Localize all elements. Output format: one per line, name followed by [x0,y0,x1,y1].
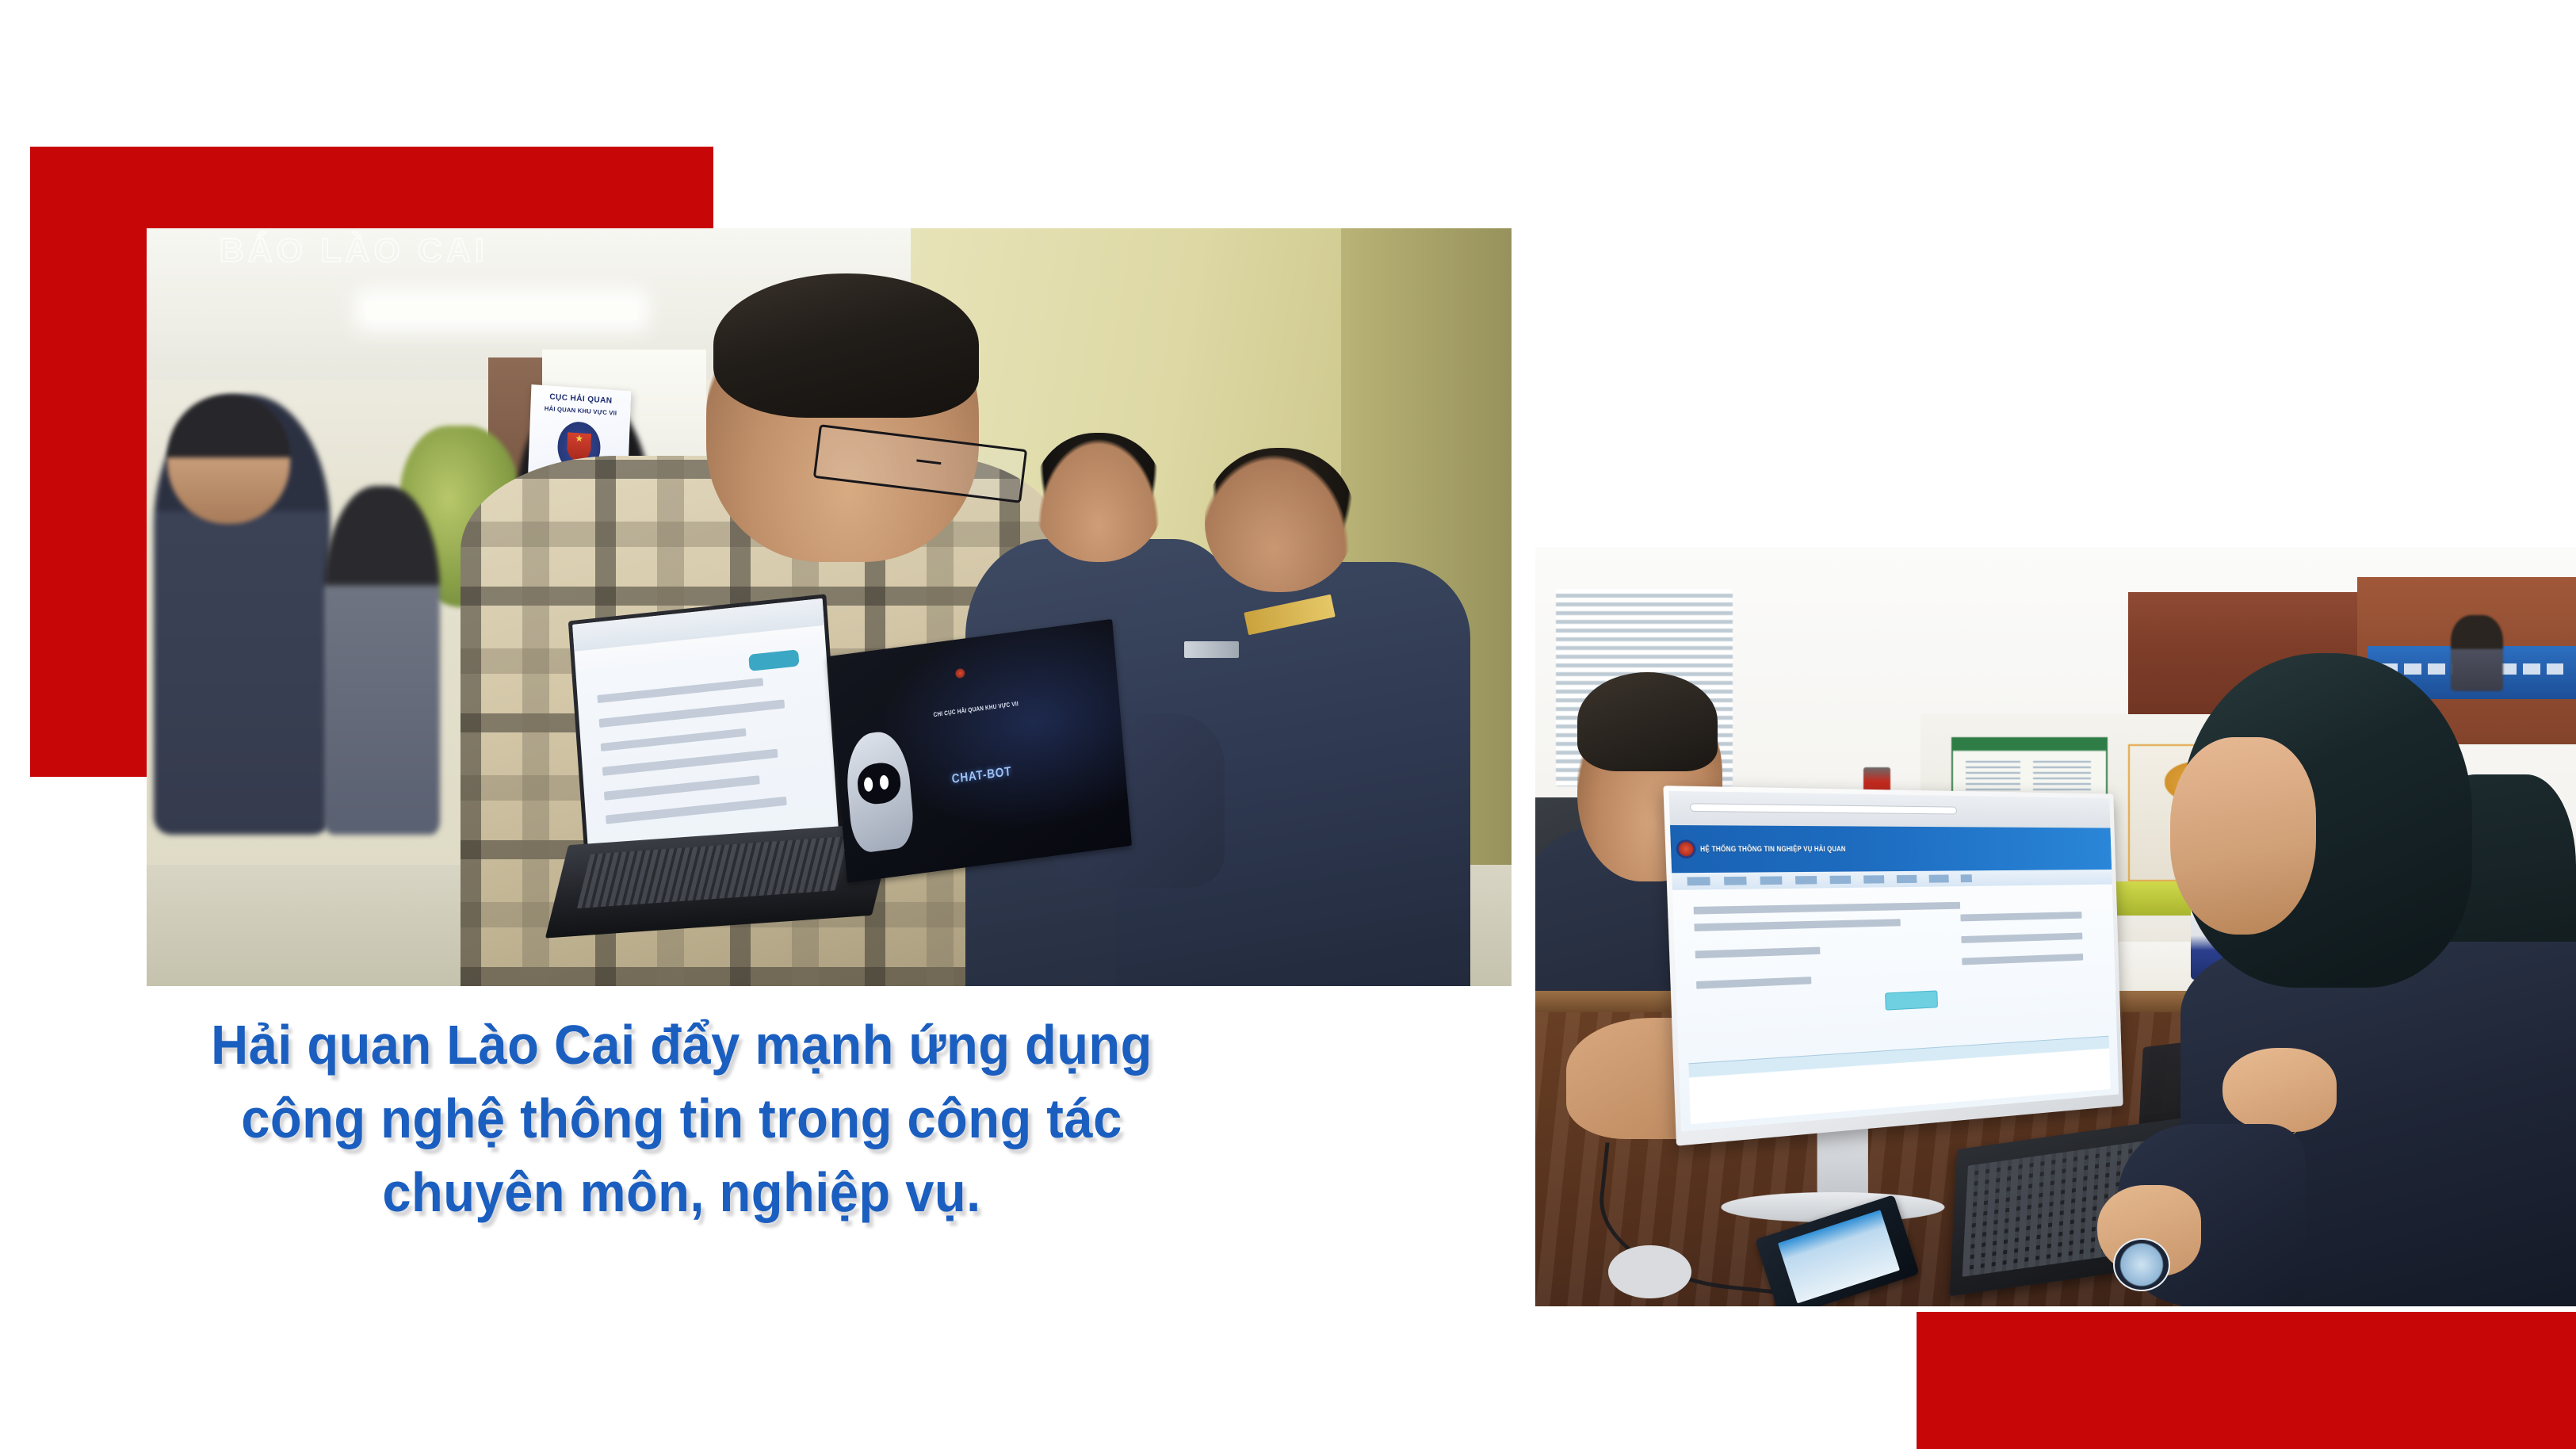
laptop-screen-button [749,649,801,671]
form-field [1962,953,2084,964]
visitor-hair [713,273,980,418]
background-person [324,486,440,835]
photo-watermark: BÁO LÀO CAI [219,231,487,270]
photo-customs-officers-laptop: CỤC HẢI QUAN HẢI QUAN KHU VỰC VII CHUYỂN… [147,228,1512,986]
submit-button [1885,990,1938,1010]
citizen-hair [1577,672,1718,771]
browser-toolbar [1668,790,2110,828]
ceiling-light-icon [365,300,638,320]
form-field [1695,976,1811,988]
desktop-monitor: HỆ THỐNG THÔNG TIN NGHIỆP VỤ HẢI QUAN [1663,786,2123,1145]
laptop-screen [573,598,840,866]
laptop-screen-row [599,700,785,728]
system-header-bar: HỆ THỐNG THÔNG TIN NGHIỆP VỤ HẢI QUAN [1670,824,2112,872]
form-field [1961,932,2083,942]
laptop-screen-row [598,678,763,704]
photo-officer-assisting-citizen: HỆ THỐNG THÔNG TIN NGHIỆP VỤ HẢI QUAN [1535,547,2576,1306]
banner-org-line-1: CỤC HẢI QUAN [548,392,612,407]
monitor-screen: HỆ THỐNG THÔNG TIN NGHIỆP VỤ HẢI QUAN [1668,790,2118,1131]
caption-line-2: công nghệ thông tin trong công tác [129,1082,1235,1156]
form-field [1960,912,2082,921]
caption-line-3: chuyên môn, nghiệp vụ. [129,1156,1235,1229]
form-text-line [1695,946,1820,958]
laptop-screen-row [601,728,747,751]
officer-badge-icon [1184,641,1239,658]
caption-line-1: Hải quan Lào Cai đẩy mạnh ứng dụng [129,1008,1235,1082]
officer-head [1034,433,1164,562]
photo-right-scene: HỆ THỐNG THÔNG TIN NGHIỆP VỤ HẢI QUAN [1535,547,2576,1306]
chatbot-display-screen: CHI CỤC HẢI QUAN KHU VỰC VII CHAT-BOT [827,619,1131,883]
results-table [1688,1035,2110,1124]
chatbot-title: CHAT-BOT [879,756,1084,797]
system-nav-bar [1672,869,2112,889]
decorative-red-block-bottom-right [1917,1312,2576,1449]
photo-left-scene: CỤC HẢI QUAN HẢI QUAN KHU VỰC VII CHUYỂN… [147,228,1512,986]
article-caption: Hải quan Lào Cai đẩy mạnh ứng dụng công … [129,1008,1235,1229]
vietnam-customs-seal-icon [1676,839,1696,858]
customs-emblem-icon [955,668,965,679]
background-person [2451,615,2503,691]
laptop-screen-row [603,749,779,776]
officer-head [1205,448,1355,592]
officer-face [2170,737,2316,935]
system-title: HỆ THỐNG THÔNG TIN NGHIỆP VỤ HẢI QUAN [1700,844,1846,853]
form-text-line [1693,901,1960,914]
laptop-screen-row [606,797,787,824]
officer-hand-on-mouse [2222,1048,2337,1131]
wristwatch [2113,1238,2170,1291]
laptop-screen-row [605,775,760,800]
chatbot-org-label: CHI CỤC HẢI QUAN KHU VỰC VII [880,694,1072,726]
desk-cable-grommet [1608,1245,1691,1298]
background-person-head [167,395,290,524]
form-text-line [1694,919,1900,931]
